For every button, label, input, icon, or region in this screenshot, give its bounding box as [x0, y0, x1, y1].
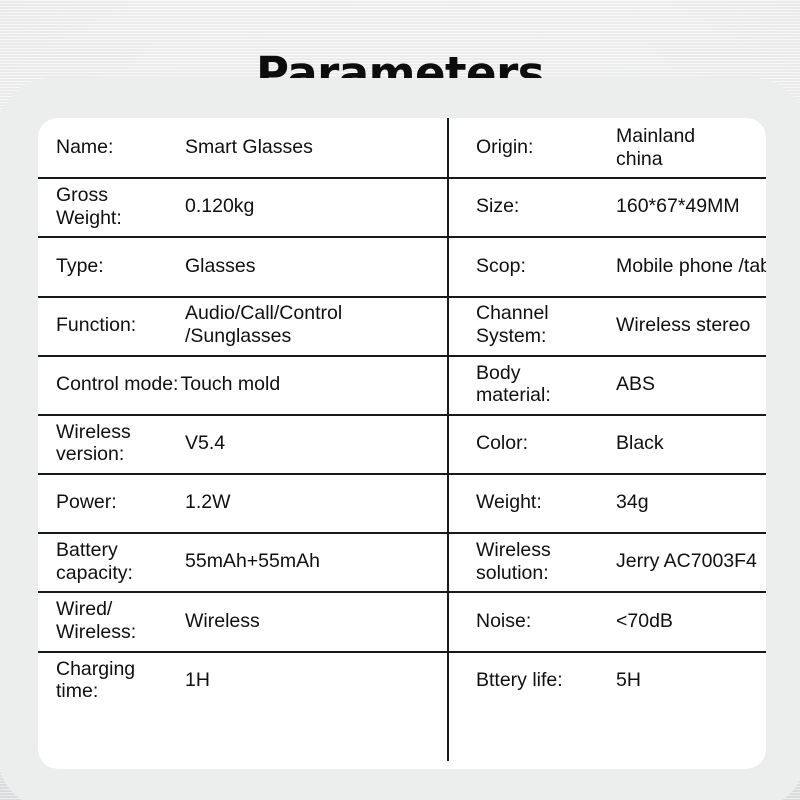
- table-row: Wireless version: V5.4 Color: Black: [38, 414, 766, 473]
- spec-cell-color: Color: Black: [447, 414, 766, 473]
- spec-value: Mobile phone /tablet: [616, 255, 792, 278]
- spec-value: 160*67*49MM: [616, 195, 740, 218]
- spec-cell-power: Power: 1.2W: [38, 473, 447, 532]
- spec-label: Channel System:: [476, 302, 616, 347]
- spec-cell-origin: Origin: Mainland china: [447, 118, 766, 177]
- spec-label: Origin:: [476, 136, 616, 159]
- table-row: Battery capacity: 55mAh+55mAh Wireless s…: [38, 532, 766, 591]
- table-row: Type: Glasses Scop: Mobile phone /tablet: [38, 236, 766, 295]
- spec-cell-type: Type: Glasses: [38, 236, 447, 295]
- spec-value: 1H: [185, 669, 210, 692]
- spec-label: Function:: [56, 314, 185, 337]
- spec-label: Wireless version:: [56, 421, 185, 466]
- spec-value: Mainland china: [616, 125, 695, 170]
- spec-cell-channel-system: Channel System: Wireless stereo: [447, 296, 766, 355]
- spec-value: Touch mold: [180, 373, 280, 396]
- spec-label: Control mode:: [56, 373, 180, 396]
- spec-label: Wired/ Wireless:: [56, 598, 185, 643]
- spec-cell-wireless-solution: Wireless solution: Jerry AC7003F4: [447, 532, 766, 591]
- spec-value: Jerry AC7003F4: [616, 550, 757, 573]
- spec-label: Scop:: [476, 255, 616, 278]
- table-row: Function: Audio/Call/Control /Sunglasses…: [38, 296, 766, 355]
- spec-label: Size:: [476, 195, 616, 218]
- table-row: Charging time: 1H Bttery life: 5H: [38, 651, 766, 710]
- spec-value: Black: [616, 432, 664, 455]
- spec-label: Charging time:: [56, 658, 185, 703]
- spec-cell-name: Name: Smart Glasses: [38, 118, 447, 177]
- spec-label: Weight:: [476, 491, 616, 514]
- spec-cell-battery-capacity: Battery capacity: 55mAh+55mAh: [38, 532, 447, 591]
- table-row: Wired/ Wireless: Wireless Noise: <70dB: [38, 591, 766, 650]
- spec-cell-noise: Noise: <70dB: [447, 591, 766, 650]
- spec-value: Wireless stereo: [616, 314, 750, 337]
- spec-value: V5.4: [185, 432, 225, 455]
- spec-label: Battery capacity:: [56, 539, 185, 584]
- spec-cell-size: Size: 160*67*49MM: [447, 177, 766, 236]
- spec-cell-control-mode: Control mode: Touch mold: [38, 355, 447, 414]
- spec-value: Audio/Call/Control /Sunglasses: [185, 302, 342, 347]
- table-row: Name: Smart Glasses Origin: Mainland chi…: [38, 118, 766, 177]
- spec-label: Body material:: [476, 362, 616, 407]
- spec-cell-function: Function: Audio/Call/Control /Sunglasses: [38, 296, 447, 355]
- table-row: Gross Weight: 0.120kg Size: 160*67*49MM: [38, 177, 766, 236]
- spec-value: Glasses: [185, 255, 255, 278]
- spec-cell-battery-life: Bttery life: 5H: [447, 651, 766, 710]
- spec-label: Noise:: [476, 610, 616, 633]
- specification-table: Name: Smart Glasses Origin: Mainland chi…: [38, 118, 766, 769]
- page-title: Parameters: [0, 47, 800, 100]
- table-row: Control mode: Touch mold Body material: …: [38, 355, 766, 414]
- spec-value: 34g: [616, 491, 649, 514]
- spec-cell-charging-time: Charging time: 1H: [38, 651, 447, 710]
- spec-cell-body-material: Body material: ABS: [447, 355, 766, 414]
- table-row: Power: 1.2W Weight: 34g: [38, 473, 766, 532]
- spec-value: <70dB: [616, 610, 673, 633]
- spec-label: Color:: [476, 432, 616, 455]
- spec-value: Wireless: [185, 610, 260, 633]
- spec-value: 1.2W: [185, 491, 231, 514]
- spec-label: Power:: [56, 491, 185, 514]
- column-divider: [447, 118, 449, 761]
- spec-cell-scop: Scop: Mobile phone /tablet: [447, 236, 766, 295]
- spec-label: Gross Weight:: [56, 184, 185, 229]
- spec-cell-wireless-version: Wireless version: V5.4: [38, 414, 447, 473]
- spec-label: Wireless solution:: [476, 539, 616, 584]
- spec-value: Smart Glasses: [185, 136, 313, 159]
- spec-label: Name:: [56, 136, 185, 159]
- spec-cell-gross-weight: Gross Weight: 0.120kg: [38, 177, 447, 236]
- spec-cell-weight: Weight: 34g: [447, 473, 766, 532]
- spec-value: 0.120kg: [185, 195, 254, 218]
- spec-value: 55mAh+55mAh: [185, 550, 320, 573]
- spec-label: Bttery life:: [476, 669, 616, 692]
- spec-value: 5H: [616, 669, 641, 692]
- spec-cell-wired-wireless: Wired/ Wireless: Wireless: [38, 591, 447, 650]
- spec-label: Type:: [56, 255, 185, 278]
- spec-value: ABS: [616, 373, 655, 396]
